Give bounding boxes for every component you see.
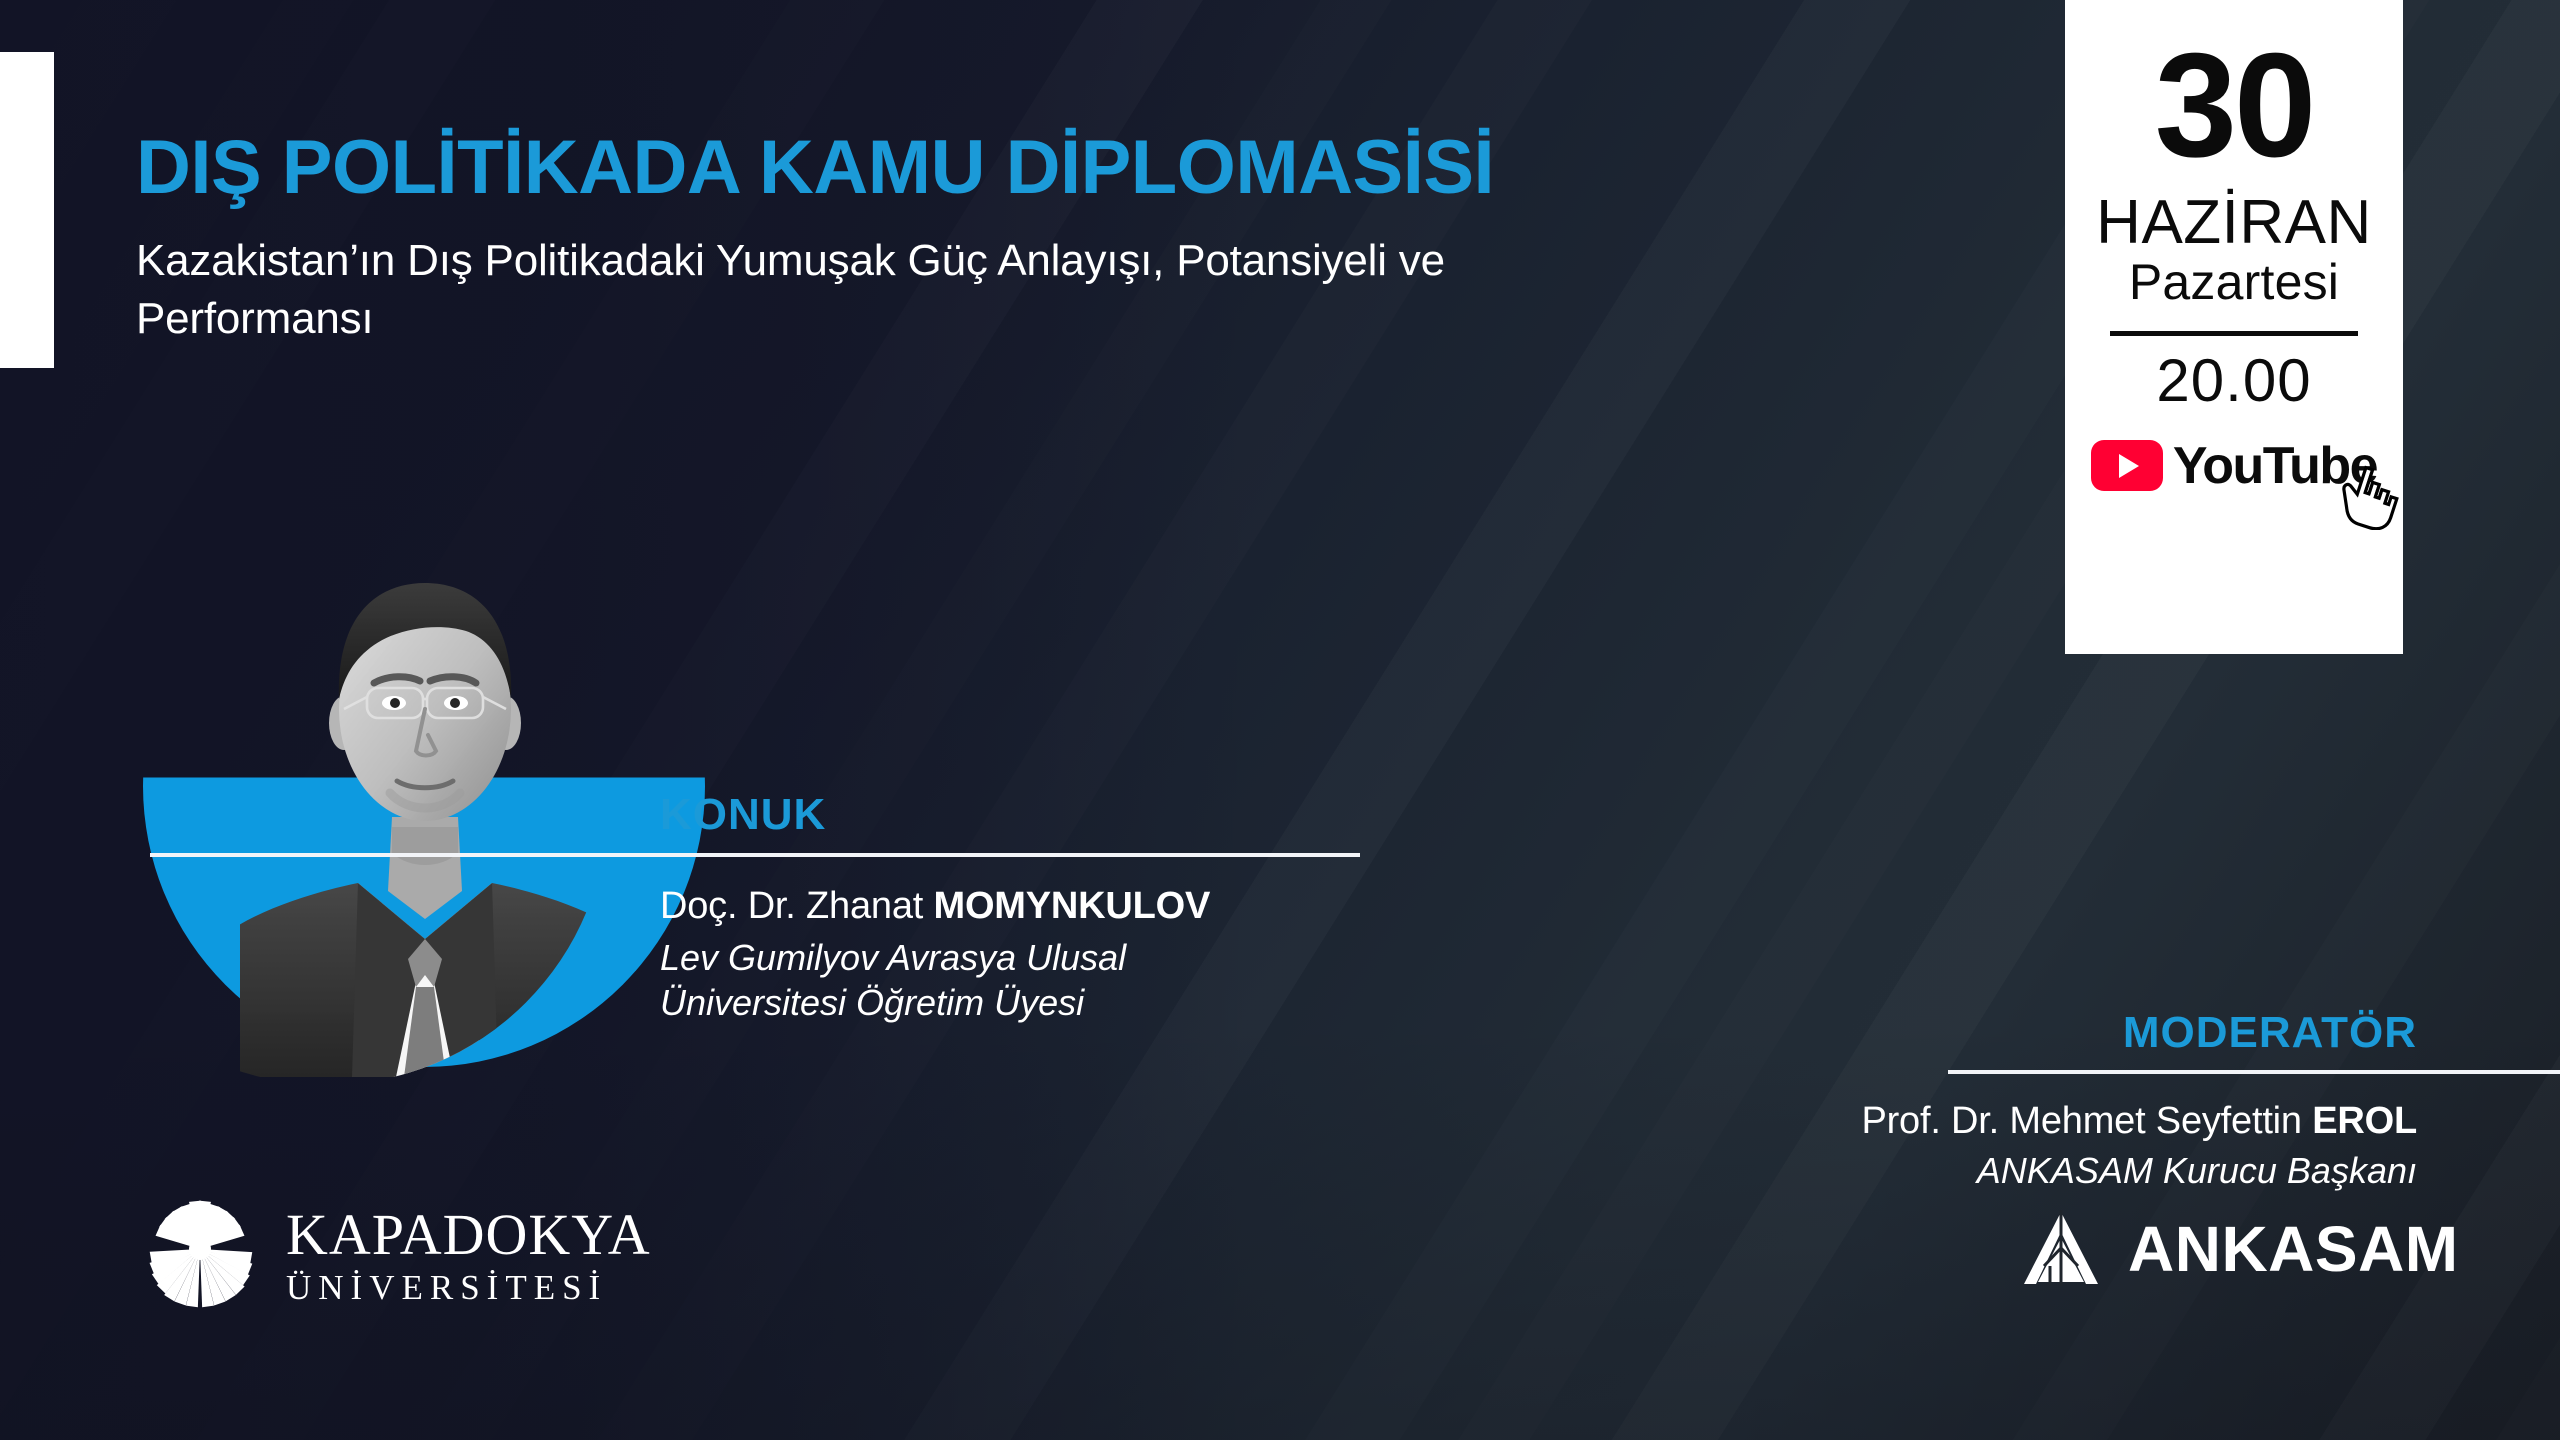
- moderator-affiliation: ANKASAM Kurucu Başkanı: [1977, 1150, 2417, 1192]
- date-weekday: Pazartesi: [2129, 256, 2339, 309]
- event-time: 20.00: [2156, 348, 2311, 414]
- date-day: 30: [2155, 38, 2314, 174]
- youtube-lockup[interactable]: YouTube: [2091, 436, 2377, 496]
- date-divider: [2110, 331, 2358, 336]
- ankasam-logo: ANKASAM: [2020, 1208, 2459, 1290]
- guest-name: Doç. Dr. Zhanat MOMYNKULOV: [660, 885, 1210, 928]
- avatar: [240, 487, 610, 1077]
- moderator-name: Prof. Dr. Mehmet Seyfettin EROL: [1861, 1100, 2417, 1143]
- kapadokya-wordmark: KAPADOKYA ÜNİVERSİTESİ: [286, 1206, 651, 1305]
- title-block: DIŞ POLİTİKADA KAMU DİPLOMASİSİ Kazakist…: [136, 128, 1836, 348]
- kapadokya-sunburst-icon: [140, 1195, 260, 1315]
- moderator-divider: [1948, 1070, 2560, 1074]
- play-triangle-icon: [2119, 454, 2139, 478]
- guest-portrait: [143, 505, 705, 1067]
- left-accent-bar: [0, 52, 54, 368]
- hand-pointer-icon: [2339, 464, 2399, 530]
- kapadokya-university-logo: KAPADOKYA ÜNİVERSİTESİ: [140, 1195, 651, 1315]
- guest-label: KONUK: [660, 790, 826, 840]
- page-title: DIŞ POLİTİKADA KAMU DİPLOMASİSİ: [136, 128, 1836, 208]
- moderator-name-prefix: Prof. Dr. Mehmet Seyfettin: [1861, 1100, 2312, 1142]
- kapadokya-subtitle: ÜNİVERSİTESİ: [286, 1270, 651, 1305]
- guest-divider: [150, 853, 1360, 857]
- guest-surname: MOMYNKULOV: [933, 885, 1210, 927]
- moderator-label: MODERATÖR: [2123, 1008, 2417, 1058]
- ankasam-wordmark: ANKASAM: [2128, 1212, 2459, 1286]
- moderator-surname: EROL: [2312, 1100, 2417, 1142]
- guest-name-prefix: Doç. Dr. Zhanat: [660, 885, 933, 927]
- date-month: HAZİRAN: [2096, 192, 2372, 254]
- kapadokya-name: KAPADOKYA: [286, 1206, 651, 1264]
- ankasam-triangle-icon: [2020, 1208, 2102, 1290]
- date-card: 30 HAZİRAN Pazartesi 20.00 YouTube: [2065, 0, 2403, 654]
- page-subtitle: Kazakistan’ın Dış Politikadaki Yumuşak G…: [136, 232, 1636, 348]
- guest-affiliation: Lev Gumilyov Avrasya Ulusal Üniversitesi…: [660, 935, 1126, 1026]
- event-poster: DIŞ POLİTİKADA KAMU DİPLOMASİSİ Kazakist…: [0, 0, 2560, 1440]
- youtube-play-icon: [2091, 440, 2163, 491]
